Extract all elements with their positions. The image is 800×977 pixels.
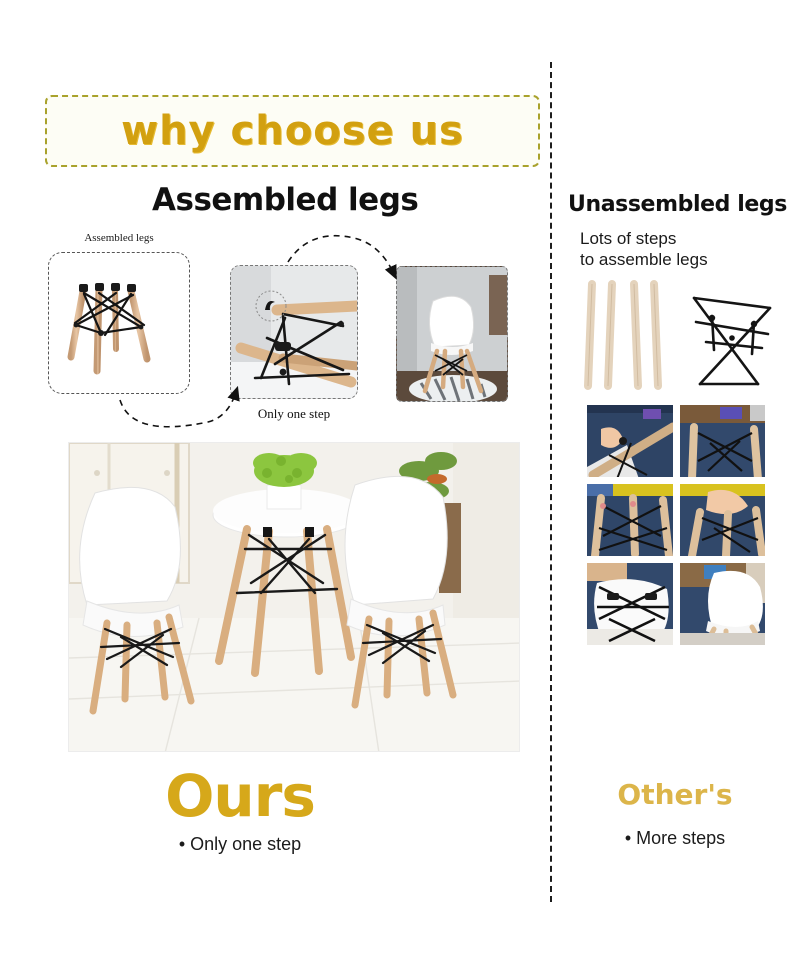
step1-caption: Assembled legs	[48, 232, 190, 244]
assembly-photo	[586, 404, 674, 478]
legs-and-frame-parts	[582, 276, 774, 394]
assembly-photo	[679, 562, 767, 646]
loose-parts-illustration	[582, 276, 774, 394]
step2-caption: Only one step	[230, 406, 358, 422]
unassembled-subheading-line1: Lots of steps	[580, 228, 708, 249]
step3-finished-chair-photo	[396, 266, 508, 402]
assembled-legs-illustration	[49, 253, 189, 393]
left-column-ours: Assembled legs Assembled legs	[0, 0, 550, 977]
unassembled-subheading: Lots of steps to assemble legs	[580, 228, 708, 270]
assembly-photo	[586, 562, 674, 646]
assembly-photo	[679, 483, 767, 557]
arrow-step1-to-step2	[120, 392, 236, 427]
unassembled-legs-heading: Unassembled legs	[568, 192, 787, 217]
others-bullet: • More steps	[550, 828, 800, 849]
finished-chair-illustration	[397, 267, 508, 402]
step2-one-step-photo	[230, 265, 358, 399]
assembly-photo	[679, 404, 767, 478]
assembly-steps-grid	[586, 404, 766, 646]
hero-dining-set-photo	[68, 442, 520, 752]
leg-closeup-illustration	[231, 266, 358, 399]
infographic-page: why choose us Assembled legs Assembled l…	[0, 0, 800, 977]
ours-label: Ours	[0, 762, 480, 830]
right-column-others: Unassembled legs Lots of steps to assemb…	[550, 0, 800, 977]
assembly-photo	[586, 483, 674, 557]
dining-set-illustration	[69, 443, 520, 752]
assembled-legs-heading: Assembled legs	[152, 182, 418, 218]
unassembled-subheading-line2: to assemble legs	[580, 249, 708, 270]
ours-bullet: • Only one step	[0, 834, 480, 855]
others-label: Other's	[550, 778, 800, 811]
step1-assembled-legs-panel	[48, 252, 190, 394]
